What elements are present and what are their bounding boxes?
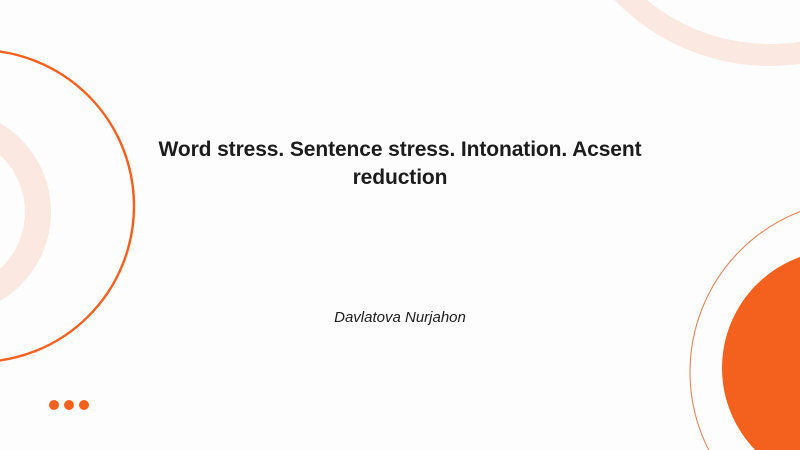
- presentation-slide: Word stress. Sentence stress. Intonation…: [0, 0, 800, 450]
- title-block: Word stress. Sentence stress. Intonation…: [140, 136, 660, 192]
- slide-content: Word stress. Sentence stress. Intonation…: [0, 0, 800, 450]
- page-title: Word stress. Sentence stress. Intonation…: [140, 136, 660, 192]
- author-name: Davlatova Nurjahon: [140, 307, 660, 328]
- author-block: Davlatova Nurjahon: [140, 307, 660, 328]
